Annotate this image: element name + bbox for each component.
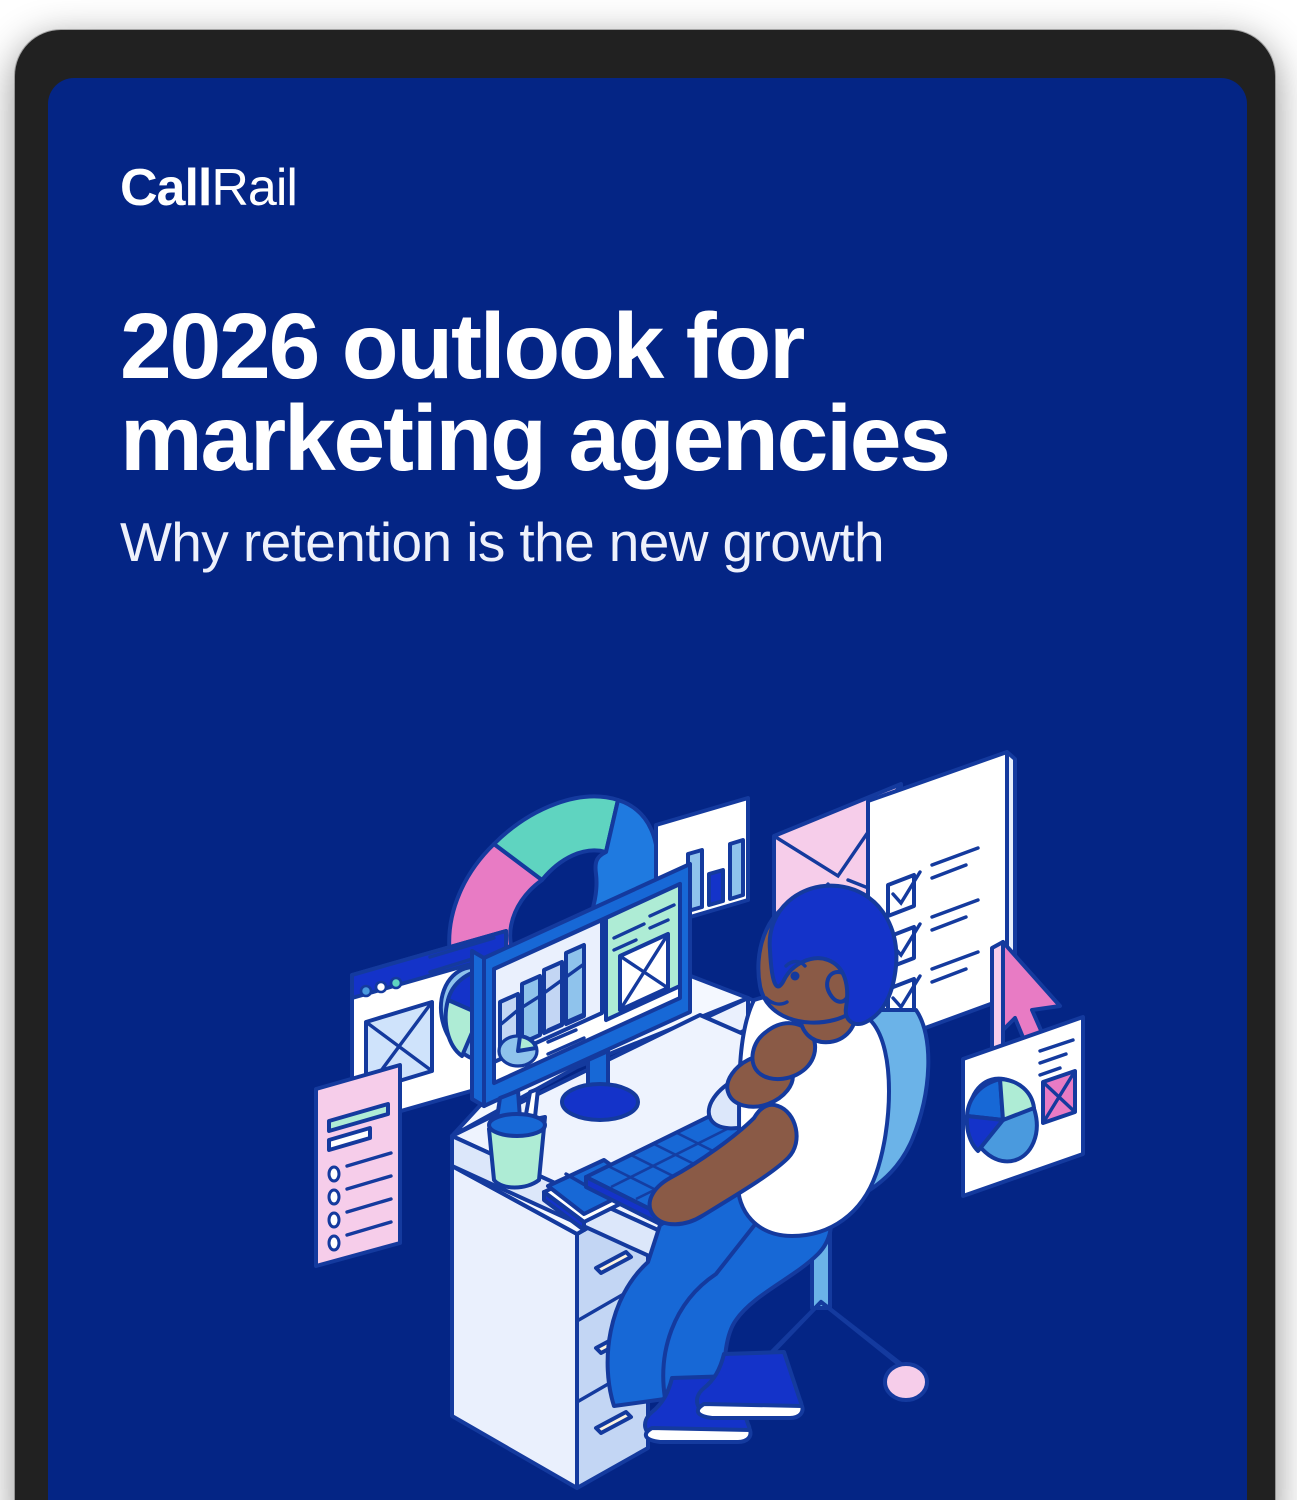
pie-chart-icon: [499, 1036, 537, 1066]
cover-subtitle: Why retention is the new growth: [120, 513, 1140, 572]
illustration-svg: .ol{stroke:#143a9e;stroke-width:4;stroke…: [48, 688, 1247, 1500]
logo-light-part: Rail: [211, 159, 297, 217]
report-card-right: [960, 1017, 1083, 1196]
hero-illustration: .ol{stroke:#143a9e;stroke-width:4;stroke…: [48, 688, 1247, 1500]
pencil-cup: [489, 1089, 545, 1188]
screenshot-canvas: CallRail 2026 outlook for marketing agen…: [0, 0, 1297, 1500]
logo-bold-part: Call: [120, 159, 211, 217]
cover-title: 2026 outlook for marketing agencies: [120, 300, 1130, 484]
pink-form-card: [316, 1065, 400, 1266]
tablet-screen: CallRail 2026 outlook for marketing agen…: [48, 78, 1247, 1500]
callrail-logo: CallRail: [120, 162, 297, 214]
tablet-device-frame: CallRail 2026 outlook for marketing agen…: [15, 30, 1275, 1500]
